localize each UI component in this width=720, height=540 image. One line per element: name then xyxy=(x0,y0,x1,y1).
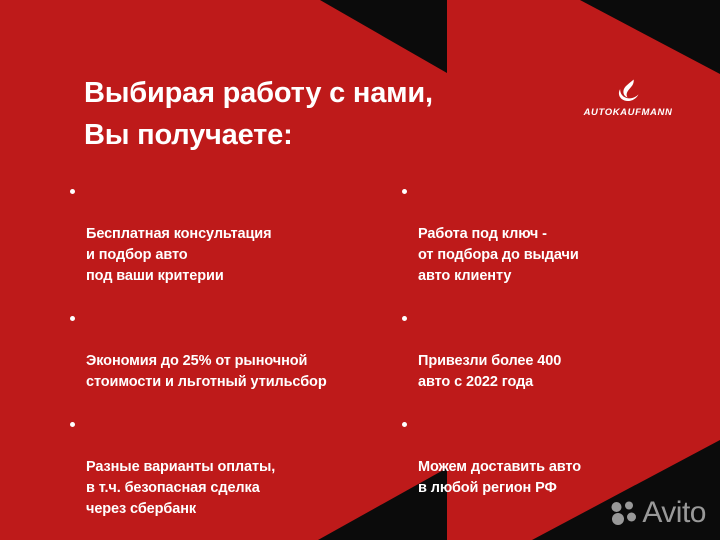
bullet-dot-icon xyxy=(70,189,75,194)
list-item: Привезли более 400 авто с 2022 года xyxy=(400,309,700,393)
avito-watermark: Avito xyxy=(610,498,706,528)
list-item: Работа под ключ - от подбора до выдачи а… xyxy=(400,182,700,287)
list-item-label: Привезли более 400 авто с 2022 года xyxy=(418,353,561,390)
benefits-right-column: Работа под ключ - от подбора до выдачи а… xyxy=(400,182,700,499)
list-item-label: Бесплатная консультация и подбор авто по… xyxy=(86,226,271,284)
bullet-dot-icon xyxy=(70,422,75,427)
brand-logo: AUTOKAUFMANN xyxy=(578,76,678,118)
list-item: Разные варианты оплаты, в т.ч. безопасна… xyxy=(68,415,398,520)
list-item-label: Экономия до 25% от рыночной стоимости и … xyxy=(86,353,327,390)
bullet-dot-icon xyxy=(402,422,407,427)
benefits-left-column: Бесплатная консультация и подбор авто по… xyxy=(68,182,398,540)
bullet-dot-icon xyxy=(402,316,407,321)
list-item-label: Работа под ключ - от подбора до выдачи а… xyxy=(418,226,579,284)
flame-swoosh-icon xyxy=(614,76,642,104)
list-item: Бесплатная консультация и подбор авто по… xyxy=(68,182,398,287)
avito-dots-icon xyxy=(610,500,640,526)
bullet-dot-icon xyxy=(70,316,75,321)
list-item-label: Разные варианты оплаты, в т.ч. безопасна… xyxy=(86,459,275,517)
promo-banner: Выбирая работу с нами, Вы получаете: AUT… xyxy=(0,0,720,540)
list-item-label: Можем доставить авто в любой регион РФ xyxy=(418,459,581,496)
logo-wordmark: AUTOKAUFMANN xyxy=(578,107,678,118)
bullet-dot-icon xyxy=(402,189,407,194)
list-item: Экономия до 25% от рыночной стоимости и … xyxy=(68,309,398,393)
avito-wordmark: Avito xyxy=(642,498,706,528)
page-title: Выбирая работу с нами, Вы получаете: xyxy=(84,72,554,156)
list-item: Можем доставить авто в любой регион РФ xyxy=(400,415,700,499)
